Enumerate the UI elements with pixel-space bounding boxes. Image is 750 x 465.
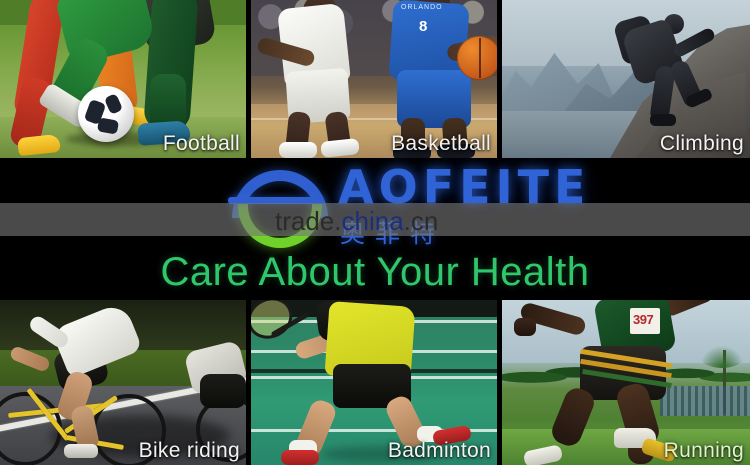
tile-running[interactable]: 397 Running: [502, 300, 750, 465]
basketball-team-text: ORLANDO: [401, 4, 443, 11]
tile-climbing[interactable]: Climbing: [502, 0, 750, 158]
tile-basketball[interactable]: ORLANDO 8 Basketball: [251, 0, 497, 158]
tile-label-football: Football: [163, 132, 240, 156]
tile-label-basketball: Basketball: [391, 132, 491, 156]
tile-label-climbing: Climbing: [660, 132, 744, 156]
running-bib-number: 397: [633, 312, 653, 327]
tile-football[interactable]: Football: [0, 0, 246, 158]
watermark-part2: china: [342, 206, 404, 236]
tagline: Care About Your Health: [0, 250, 750, 295]
banner-stage: Football ORLANDO 8 Basketball Climbing: [0, 0, 750, 465]
tile-badminton[interactable]: Badminton: [251, 300, 497, 465]
basketball-jersey-number: 8: [419, 18, 427, 35]
tile-label-badminton: Badminton: [388, 439, 491, 463]
basketball-ball: [457, 36, 497, 80]
tile-label-running: Running: [664, 439, 744, 463]
tile-bike-riding[interactable]: Bike riding: [0, 300, 246, 465]
watermark-part3: .cn: [404, 206, 439, 236]
tile-label-bike-riding: Bike riding: [139, 439, 240, 463]
watermark-text: trade.china.cn: [275, 206, 438, 237]
watermark-part1: trade.: [275, 206, 342, 236]
